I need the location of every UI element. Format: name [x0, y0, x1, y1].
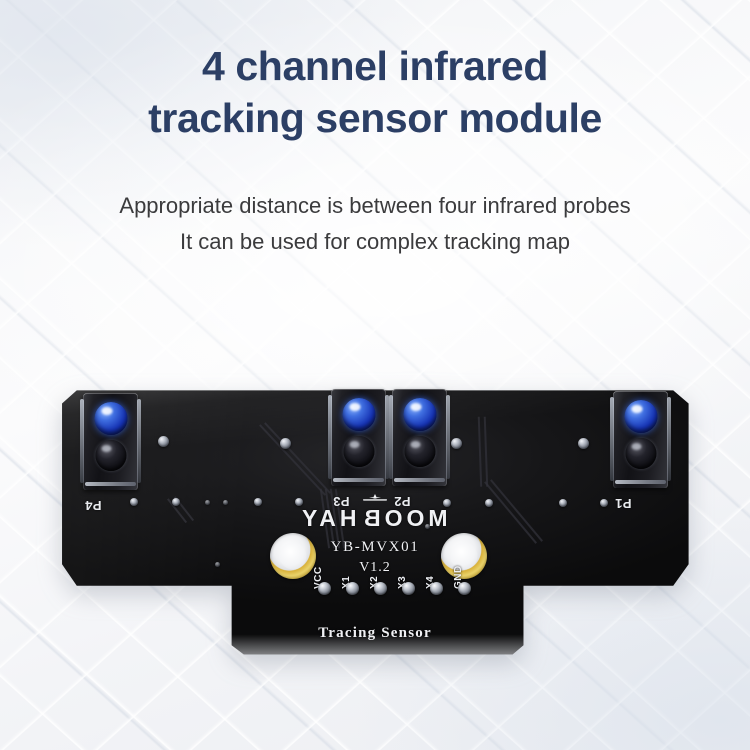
infrared-receiver-icon	[95, 440, 126, 471]
brand-logo: YAHMOOB	[302, 505, 448, 532]
yahboom-crown-icon	[352, 494, 398, 503]
mounting-hole-left	[270, 533, 316, 579]
probe-label-p1: P1	[615, 496, 632, 511]
mounting-hole-right	[441, 533, 487, 579]
probe-foot	[394, 478, 445, 482]
ir-probe-p2: P2	[392, 389, 447, 486]
solder-via	[205, 500, 210, 505]
solder-via	[559, 499, 567, 507]
solder-via	[215, 562, 220, 567]
solder-via	[223, 500, 228, 505]
ir-probe-p1: P1	[613, 391, 668, 488]
page-subtitle: Appropriate distance is between four inf…	[0, 188, 750, 260]
pcb-product-photo: P4 P3 P2 P1	[55, 386, 695, 656]
infrared-receiver-icon	[404, 436, 435, 467]
page-title: 4 channel infrared tracking sensor modul…	[0, 40, 750, 144]
solder-via	[254, 498, 262, 506]
ir-probe-p4: P4	[83, 393, 138, 490]
solder-via	[158, 436, 169, 447]
pin-pad-vcc	[318, 582, 331, 595]
solder-via	[600, 499, 608, 507]
infrared-receiver-icon	[625, 438, 656, 469]
probe-foot	[333, 478, 384, 482]
infrared-emitter-led-icon	[94, 402, 127, 435]
solder-via	[130, 498, 138, 506]
infrared-receiver-icon	[343, 436, 374, 467]
infrared-emitter-led-icon	[624, 400, 657, 433]
part-number-silkscreen: YB-MVX01	[331, 539, 420, 556]
probe-foot	[85, 482, 136, 486]
ir-probe-p3: P3	[331, 389, 386, 486]
version-silkscreen: V1.2	[359, 560, 391, 576]
solder-via	[280, 438, 291, 449]
probe-foot	[615, 480, 666, 484]
solder-via	[485, 499, 493, 507]
pin-pad-x1	[346, 582, 359, 595]
pin-pad-x4	[430, 582, 443, 595]
solder-via	[451, 438, 462, 449]
solder-via	[578, 438, 589, 449]
board-name-silkscreen: Tracing Sensor	[318, 625, 432, 642]
solder-via	[172, 498, 180, 506]
infrared-emitter-led-icon	[403, 398, 436, 431]
pin-pad-x2	[374, 582, 387, 595]
product-promo-page: 4 channel infrared tracking sensor modul…	[0, 0, 750, 750]
infrared-emitter-led-icon	[342, 398, 375, 431]
brand-logo-text: YAHMOOB	[302, 505, 448, 531]
pin-pad-gnd	[458, 582, 471, 595]
pin-pad-x3	[402, 582, 415, 595]
probe-label-p4: P4	[85, 498, 102, 513]
